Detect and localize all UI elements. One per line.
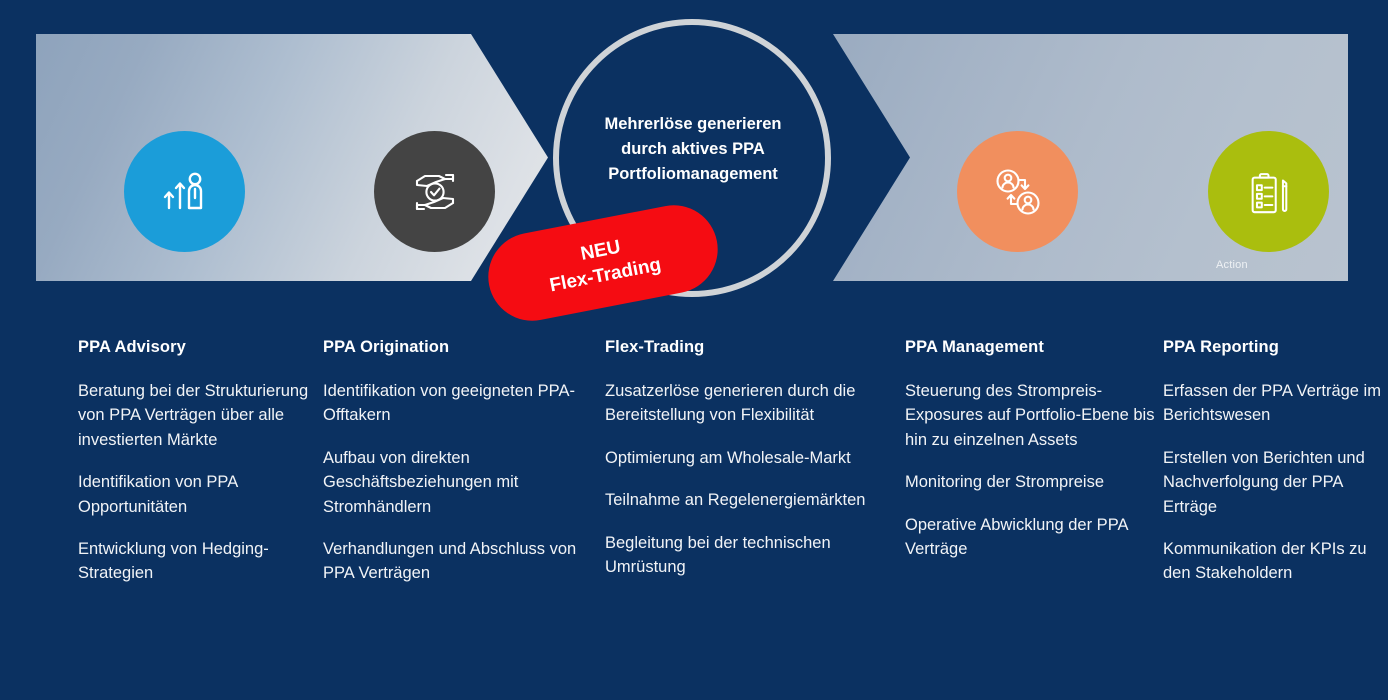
column-ppa-reporting: PPA Reporting Erfassen der PPA Verträge … — [1163, 338, 1388, 586]
column-ppa-advisory: PPA Advisory Beratung bei der Strukturie… — [78, 338, 323, 586]
node-ppa-origination[interactable] — [374, 131, 495, 252]
column-item: Steuerung des Strompreis-Exposures auf P… — [905, 379, 1163, 452]
person-growth-arrows-icon — [159, 166, 211, 218]
column-item: Monitoring der Strompreise — [905, 470, 1163, 494]
column-item: Beratung bei der Strukturierung von PPA … — [78, 379, 323, 452]
column-title: PPA Management — [905, 338, 1163, 357]
column-item: Verhandlungen und Abschluss von PPA Vert… — [323, 537, 605, 586]
column-item: Kommunikation der KPIs zu den Stakeholde… — [1163, 537, 1388, 586]
column-title: PPA Reporting — [1163, 338, 1388, 357]
center-headline-line-1: Mehrerlöse generieren — [575, 112, 811, 137]
node-ppa-management[interactable] — [957, 131, 1078, 252]
column-item: Zusatzerlöse generieren durch die Bereit… — [605, 379, 905, 428]
node-ppa-reporting[interactable] — [1208, 131, 1329, 252]
column-title: Flex-Trading — [605, 338, 905, 357]
node-ppa-advisory[interactable] — [124, 131, 245, 252]
column-item: Erfassen der PPA Verträge im Berichtswes… — [1163, 379, 1388, 428]
connected-users-icon — [992, 166, 1044, 218]
column-item: Entwicklung von Hedging-Strategien — [78, 537, 323, 586]
column-ppa-management: PPA Management Steuerung des Strompreis-… — [905, 338, 1163, 586]
column-title: PPA Origination — [323, 338, 605, 357]
clipboard-checklist-pencil-icon — [1244, 167, 1294, 217]
center-headline-line-3: Portfoliomanagement — [575, 162, 811, 187]
column-item: Identifikation von geeigneten PPA-Offtak… — [323, 379, 605, 428]
hands-holding-check-icon — [409, 166, 461, 218]
service-columns: PPA Advisory Beratung bei der Strukturie… — [0, 338, 1388, 586]
column-item: Begleitung bei der technischen Umrüstung — [605, 531, 905, 580]
column-title: PPA Advisory — [78, 338, 323, 357]
center-headline-line-2: durch aktives PPA — [575, 137, 811, 162]
column-ppa-origination: PPA Origination Identifikation von geeig… — [323, 338, 605, 586]
column-item: Teilnahme an Regelenergiemärkten — [605, 488, 905, 512]
column-item: Identifikation von PPA Opportunitäten — [78, 470, 323, 519]
center-headline: Mehrerlöse generieren durch aktives PPA … — [575, 112, 811, 186]
column-item: Aufbau von direkten Geschäftsbeziehungen… — [323, 446, 605, 519]
node-reporting-caption: Action — [1216, 259, 1248, 271]
column-flex-trading: Flex-Trading Zusatzerlöse generieren dur… — [605, 338, 905, 586]
column-item: Erstellen von Berichten und Nachverfolgu… — [1163, 446, 1388, 519]
column-item: Operative Abwicklung der PPA Verträge — [905, 513, 1163, 562]
column-item: Optimierung am Wholesale-Markt — [605, 446, 905, 470]
